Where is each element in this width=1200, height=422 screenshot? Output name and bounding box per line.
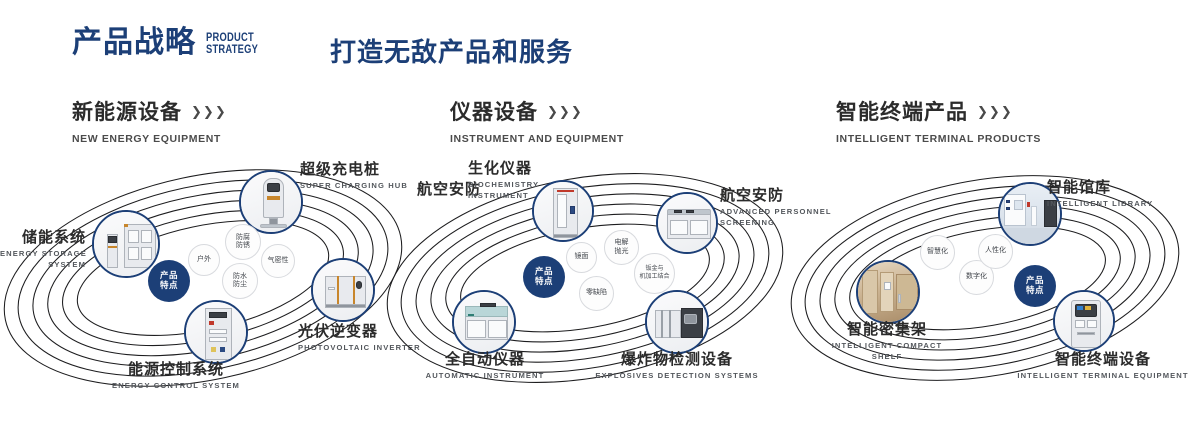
chevron-right-icon: ❯❯❯: [547, 105, 582, 118]
core-product-features[interactable]: 产品 特点: [1014, 265, 1056, 307]
label-energy-storage-system: 储能系统 ENERGY STORAGE SYSTEM: [0, 226, 86, 269]
label-automatic-instrument: 全自动仪器 AUTOMATIC INSTRUMENT: [385, 348, 585, 380]
node-intelligent-compact-shelf[interactable]: [856, 260, 920, 324]
node-photovoltaic-inverter[interactable]: [311, 258, 375, 322]
section-header-intelligent-terminal: 智能终端产品 ❯❯❯ INTELLIGENT TERMINAL PRODUCTS: [836, 96, 1041, 145]
section-header-new-energy: 新能源设备 ❯❯❯ NEW ENERGY EQUIPMENT: [72, 96, 226, 145]
feature-bubble[interactable]: 户外: [188, 244, 220, 276]
label-super-charging-hub: 超级充电桩 SUPER CHARGING HUB: [300, 158, 408, 190]
cluster-instrument: 航空安防 生化仪器 BIOCHEMISTRY INSTRUMENT 航空安防 A…: [395, 150, 815, 410]
label-energy-control-system: 能源控制系统 ENERGY CONTROL SYSTEM: [76, 358, 276, 390]
feature-bubble[interactable]: 防水 防尘: [222, 263, 258, 299]
node-advanced-personnel-screening[interactable]: [656, 192, 718, 254]
core-product-features[interactable]: 产品 特点: [523, 256, 565, 298]
section-title-cn: 仪器设备: [450, 96, 538, 126]
node-biochemistry-instrument[interactable]: [532, 180, 594, 242]
product-strategy-infographic: 产品战略 PRODUCT STRATEGY 打造无敌产品和服务 新能源设备 ❯❯…: [0, 0, 1200, 422]
feature-bubble[interactable]: 智慧化: [920, 235, 955, 270]
node-energy-control-system[interactable]: [184, 300, 248, 364]
core-product-features[interactable]: 产品 特点: [148, 260, 190, 302]
node-automatic-instrument[interactable]: [452, 290, 516, 354]
page-subtitle: 打造无敌产品和服务: [330, 32, 573, 69]
section-header-instrument: 仪器设备 ❯❯❯ INSTRUMENT AND EQUIPMENT: [450, 96, 624, 145]
chevron-right-icon: ❯❯❯: [977, 105, 1012, 118]
feature-bubble[interactable]: 电解 抛光: [604, 230, 639, 265]
feature-bubble[interactable]: 镜面: [566, 242, 597, 273]
label-intelligent-library: 智能馆库 INTELLIGENT LIBRARY: [1047, 176, 1153, 208]
page-title-en-line1: PRODUCT: [206, 31, 258, 44]
feature-bubble[interactable]: 零缺陷: [579, 276, 614, 311]
cluster-new-energy: 储能系统 ENERGY STORAGE SYSTEM 超级充电桩 SUPER C…: [0, 150, 420, 410]
label-intelligent-compact-shelf: 智能密集架 INTELLIGENT COMPACT SHELF: [787, 318, 987, 361]
page-title-cn: 产品战略: [72, 28, 196, 58]
feature-bubble[interactable]: 钣金与 机加工结合: [634, 253, 675, 294]
page-title-en-line2: STRATEGY: [206, 43, 258, 56]
feature-bubble[interactable]: 气密性: [261, 244, 295, 278]
section-title-en: INSTRUMENT AND EQUIPMENT: [450, 133, 624, 145]
cluster-intelligent-terminal: 智能馆库 INTELLIGENT LIBRARY 智能密集架 INTELLIGE…: [795, 150, 1200, 410]
section-title-en: INTELLIGENT TERMINAL PRODUCTS: [836, 133, 1041, 145]
section-title-en: NEW ENERGY EQUIPMENT: [72, 133, 226, 145]
section-title-cn: 新能源设备: [72, 96, 182, 126]
node-energy-storage-system[interactable]: [92, 210, 160, 278]
node-explosives-detection-systems[interactable]: [645, 290, 709, 354]
page-title: 产品战略 PRODUCT STRATEGY: [72, 28, 273, 58]
page-title-en: PRODUCT STRATEGY: [206, 31, 258, 56]
feature-bubble[interactable]: 防腐 防锈: [225, 224, 261, 260]
label-biochemistry-instrument: 生化仪器 BIOCHEMISTRY INSTRUMENT: [468, 157, 539, 200]
section-title-cn: 智能终端产品: [836, 96, 968, 126]
chevron-right-icon: ❯❯❯: [191, 105, 226, 118]
label-explosives-detection-systems: 爆炸物检测设备 EXPLOSIVES DETECTION SYSTEMS: [577, 348, 777, 380]
label-intelligent-terminal-equipment: 智能终端设备 INTELLIGENT TERMINAL EQUIPMENT: [1003, 348, 1200, 380]
feature-bubble[interactable]: 人性化: [978, 234, 1013, 269]
node-intelligent-terminal-equipment[interactable]: [1053, 290, 1115, 352]
